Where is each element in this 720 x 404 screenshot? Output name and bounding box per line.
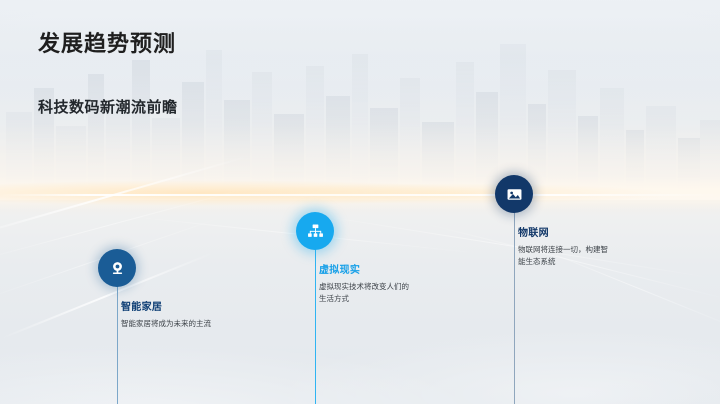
pin-smart-home[interactable] [98, 249, 136, 287]
picture-icon [505, 185, 524, 204]
connector-line-virtual-reality [315, 231, 316, 404]
webcam-icon [108, 259, 127, 278]
connector-line-internet-of-things [514, 194, 515, 404]
node-title-internet-of-things: 物联网 [518, 224, 549, 239]
node-body-internet-of-things: 物联网将连接一切，构建智能生态系统 [518, 244, 610, 269]
page-title: 发展趋势预测 [38, 26, 176, 58]
node-title-virtual-reality: 虚拟现实 [319, 261, 360, 276]
connector-line-smart-home [117, 268, 118, 404]
node-body-virtual-reality: 虚拟现实技术将改变人们的生活方式 [319, 281, 411, 306]
presentation-slide: 发展趋势预测 科技数码新潮流前瞻 智能家居 智能家居将成为未来的主流 [0, 0, 720, 404]
pin-virtual-reality[interactable] [296, 212, 334, 250]
node-title-smart-home: 智能家居 [121, 298, 162, 313]
node-body-smart-home: 智能家居将成为未来的主流 [121, 318, 213, 330]
pin-internet-of-things[interactable] [495, 175, 533, 213]
sitemap-icon [306, 222, 325, 241]
page-subtitle: 科技数码新潮流前瞻 [38, 96, 178, 117]
